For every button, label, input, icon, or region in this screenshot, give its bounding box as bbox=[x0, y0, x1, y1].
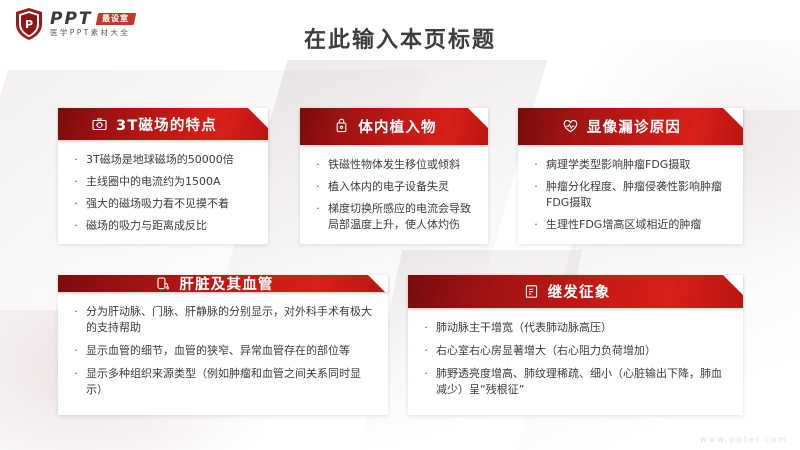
card-body: · 病理学类型影响肿瘤FDG摄取 · 肿瘤分化程度、肿瘤侵袭性影响肿瘤FDG摄取… bbox=[518, 145, 743, 244]
bullet-dot: · bbox=[72, 304, 80, 320]
bullet-dot: · bbox=[314, 201, 322, 217]
bullet-text: 肿瘤分化程度、肿瘤侵袭性影响肿瘤FDG摄取 bbox=[546, 179, 731, 211]
bullet-dot: · bbox=[532, 157, 540, 173]
mri-machine-icon bbox=[91, 116, 108, 133]
bullet-item: · 显示血管的细节，血管的狭窄、异常血管存在的部位等 bbox=[72, 343, 376, 359]
bullet-item: · 显示多种组织来源类型（例如肿瘤和血管之间关系同时显示） bbox=[72, 366, 376, 398]
info-card-4: 肝脏及其血管 · 分为肝动脉、门脉、肝静脉的分别显示，对外科手术有极大的支持帮助… bbox=[58, 275, 388, 415]
bullet-dot: · bbox=[72, 366, 80, 382]
bullet-item: · 铁磁性物体发生移位或倾斜 bbox=[314, 157, 476, 173]
bullet-text: 病理学类型影响肿瘤FDG摄取 bbox=[546, 157, 731, 173]
bullet-dot: · bbox=[532, 217, 540, 233]
bullet-text: 强大的磁场吸力看不见摸不着 bbox=[86, 196, 256, 212]
bullet-item: · 肺动脉主干增宽（代表肺动脉高压） bbox=[422, 320, 731, 336]
bullet-item: · 分为肝动脉、门脉、肝静脉的分别显示，对外科手术有极大的支持帮助 bbox=[72, 304, 376, 336]
bullet-item: · 主线圈中的电流约为1500A bbox=[72, 174, 256, 190]
page-title: 在此输入本页标题 bbox=[0, 22, 800, 54]
card-body: · 3T磁场是地球磁场的50000倍 · 主线圈中的电流约为1500A · 强大… bbox=[58, 140, 268, 244]
bullet-dot: · bbox=[72, 174, 80, 190]
bullet-text: 肺野透亮度增高、肺纹理稀疏、细小（心脏输出下降，肺血减少）呈“残根征” bbox=[436, 366, 731, 398]
bullet-text: 植入体内的电子设备失灵 bbox=[328, 179, 476, 195]
bullet-text: 3T磁场是地球磁场的50000倍 bbox=[86, 152, 256, 168]
bullet-text: 铁磁性物体发生移位或倾斜 bbox=[328, 157, 476, 173]
bullet-item: · 生理性FDG增高区域相近的肿瘤 bbox=[532, 217, 731, 233]
bullet-dot: · bbox=[314, 179, 322, 195]
card-title: 显像漏诊原因 bbox=[587, 116, 681, 137]
bullet-text: 梯度切换所感应的电流会导致局部温度上升，使人体灼伤 bbox=[328, 201, 476, 233]
implant-lock-icon bbox=[333, 118, 350, 135]
bullet-item: · 病理学类型影响肿瘤FDG摄取 bbox=[532, 157, 731, 173]
bullet-dot: · bbox=[422, 320, 430, 336]
bullet-item: · 梯度切换所感应的电流会导致局部温度上升，使人体灼伤 bbox=[314, 201, 476, 233]
bullet-dot: · bbox=[314, 157, 322, 173]
card-header: 继发征象 bbox=[408, 275, 743, 308]
bullet-text: 主线圈中的电流约为1500A bbox=[86, 174, 256, 190]
bullet-item: · 3T磁场是地球磁场的50000倍 bbox=[72, 152, 256, 168]
bullet-dot: · bbox=[422, 343, 430, 359]
bullet-item: · 肿瘤分化程度、肿瘤侵袭性影响肿瘤FDG摄取 bbox=[532, 179, 731, 211]
card-title: 肝脏及其血管 bbox=[179, 275, 273, 292]
info-card-1: 3T磁场的特点 · 3T磁场是地球磁场的50000倍 · 主线圈中的电流约为15… bbox=[58, 108, 268, 244]
bullet-item: · 磁场的吸力与距离成反比 bbox=[72, 218, 256, 234]
card-body: · 分为肝动脉、门脉、肝静脉的分别显示，对外科手术有极大的支持帮助 · 显示血管… bbox=[58, 292, 388, 415]
info-card-2: 体内植入物 · 铁磁性物体发生移位或倾斜 · 植入体内的电子设备失灵 · 梯度切… bbox=[300, 108, 488, 244]
bullet-text: 显示多种组织来源类型（例如肿瘤和血管之间关系同时显示） bbox=[86, 366, 376, 398]
bullet-dot: · bbox=[72, 343, 80, 359]
bullet-text: 右心室右心房显著增大（右心阻力负荷增加） bbox=[436, 343, 731, 359]
card-header: 显像漏诊原因 bbox=[518, 108, 743, 145]
bullet-dot: · bbox=[72, 218, 80, 234]
bullet-dot: · bbox=[72, 196, 80, 212]
heart-pulse-icon bbox=[562, 118, 579, 135]
liver-organ-icon bbox=[154, 275, 171, 292]
bullet-text: 磁场的吸力与距离成反比 bbox=[86, 218, 256, 234]
card-body: · 铁磁性物体发生移位或倾斜 · 植入体内的电子设备失灵 · 梯度切换所感应的电… bbox=[300, 145, 488, 244]
card-title: 继发征象 bbox=[548, 281, 611, 302]
bullet-text: 肺动脉主干增宽（代表肺动脉高压） bbox=[436, 320, 731, 336]
card-header: 肝脏及其血管 bbox=[58, 275, 388, 292]
bullet-text: 显示血管的细节，血管的狭窄、异常血管存在的部位等 bbox=[86, 343, 376, 359]
bullet-item: · 强大的磁场吸力看不见摸不着 bbox=[72, 196, 256, 212]
bullet-item: · 右心室右心房显著增大（右心阻力负荷增加） bbox=[422, 343, 731, 359]
bullet-item: · 植入体内的电子设备失灵 bbox=[314, 179, 476, 195]
info-card-5: 继发征象 · 肺动脉主干增宽（代表肺动脉高压） · 右心室右心房显著增大（右心阻… bbox=[408, 275, 743, 415]
footer-watermark: www.ppter.com bbox=[700, 435, 788, 444]
card-header: 体内植入物 bbox=[300, 108, 488, 145]
bullet-dot: · bbox=[422, 366, 430, 382]
card-header: 3T磁场的特点 bbox=[58, 108, 268, 140]
bullet-text: 生理性FDG增高区域相近的肿瘤 bbox=[546, 217, 731, 233]
bullet-dot: · bbox=[532, 179, 540, 195]
card-body: · 肺动脉主干增宽（代表肺动脉高压） · 右心室右心房显著增大（右心阻力负荷增加… bbox=[408, 308, 743, 415]
bullet-text: 分为肝动脉、门脉、肝静脉的分别显示，对外科手术有极大的支持帮助 bbox=[86, 304, 376, 336]
info-card-3: 显像漏诊原因 · 病理学类型影响肿瘤FDG摄取 · 肿瘤分化程度、肿瘤侵袭性影响… bbox=[518, 108, 743, 244]
report-document-icon bbox=[523, 283, 540, 300]
card-title: 3T磁场的特点 bbox=[116, 114, 217, 135]
bullet-item: · 肺野透亮度增高、肺纹理稀疏、细小（心脏输出下降，肺血减少）呈“残根征” bbox=[422, 366, 731, 398]
card-title: 体内植入物 bbox=[358, 116, 437, 137]
bullet-dot: · bbox=[72, 152, 80, 168]
